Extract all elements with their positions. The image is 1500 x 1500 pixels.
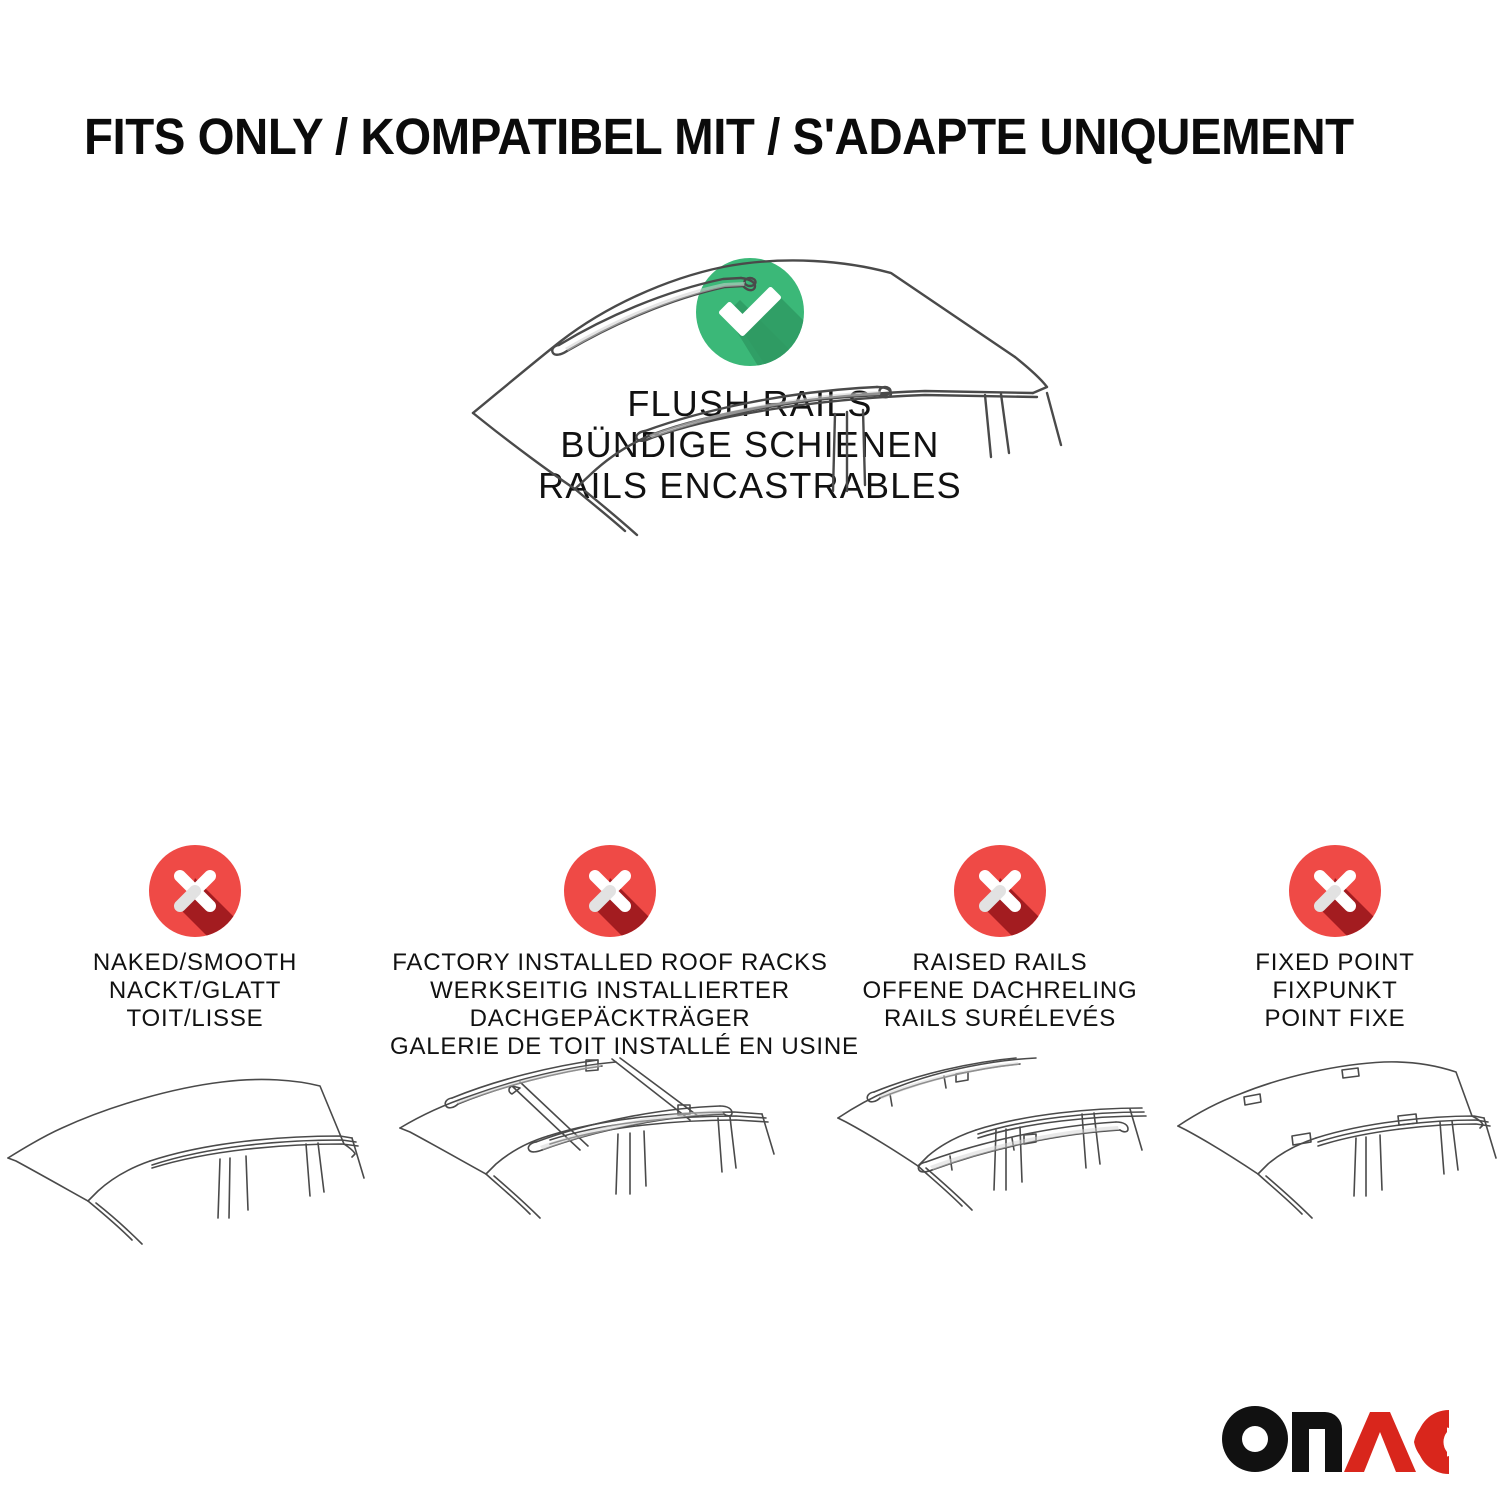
car-roof-bare-illustration — [0, 1058, 390, 1288]
car-roof-raised-rails-illustration — [830, 1058, 1170, 1288]
incompatible-column-factory-rack: FACTORY INSTALLED ROOF RACKS WERKSEITIG … — [390, 845, 830, 1061]
incompatible-label-raised-rails: RAISED RAILS OFFENE DACHRELING RAILS SUR… — [830, 949, 1170, 1033]
car-roof-factory-rack-illustration — [390, 1058, 830, 1288]
red-x-circle-icon — [149, 845, 241, 937]
label-line: WERKSEITIG INSTALLIERTER — [390, 977, 830, 1005]
page-title: FITS ONLY / KOMPATIBEL MIT / S'ADAPTE UN… — [84, 107, 1354, 166]
car-roof-flush-rails-illustration — [455, 245, 1075, 545]
label-line: RAISED RAILS — [830, 949, 1170, 977]
red-x-circle-icon — [1289, 845, 1381, 937]
label-line: DACHGEPÄCKTRÄGER — [390, 1005, 830, 1033]
incompatible-label-factory-rack: FACTORY INSTALLED ROOF RACKS WERKSEITIG … — [390, 949, 830, 1061]
label-line: FIXED POINT — [1170, 949, 1500, 977]
incompatible-column-raised-rails: RAISED RAILS OFFENE DACHRELING RAILS SUR… — [830, 845, 1170, 1061]
omac-logo — [1222, 1404, 1447, 1474]
logo-letter-o — [1222, 1406, 1288, 1472]
incompatible-label-fixed-point: FIXED POINT FIXPUNKT POINT FIXE — [1170, 949, 1500, 1033]
label-line: OFFENE DACHRELING — [830, 977, 1170, 1005]
incompatible-column-fixed-point: FIXED POINT FIXPUNKT POINT FIXE — [1170, 845, 1500, 1061]
label-line: RAILS SURÉLEVÉS — [830, 1005, 1170, 1033]
label-line: GALERIE DE TOIT INSTALLÉ EN USINE — [390, 1033, 830, 1061]
label-line: FIXPUNKT — [1170, 977, 1500, 1005]
car-roof-fixed-point-illustration — [1170, 1058, 1500, 1288]
red-x-circle-icon — [564, 845, 656, 937]
label-line: TOIT/LISSE — [0, 1005, 390, 1033]
label-line: NAKED/SMOOTH — [0, 949, 390, 977]
incompatible-column-naked: NAKED/SMOOTH NACKT/GLATT TOIT/LISSE — [0, 845, 390, 1061]
label-line: POINT FIXE — [1170, 1005, 1500, 1033]
red-x-circle-icon — [954, 845, 1046, 937]
label-line: FACTORY INSTALLED ROOF RACKS — [390, 949, 830, 977]
logo-letter-m — [1292, 1412, 1342, 1472]
logo-letter-a — [1344, 1412, 1416, 1472]
label-line: NACKT/GLATT — [0, 977, 390, 1005]
roof-illustrations-row — [0, 1058, 1500, 1288]
incompatible-section: NAKED/SMOOTH NACKT/GLATT TOIT/LISSE FACT… — [0, 845, 1500, 1061]
incompatible-label-naked: NAKED/SMOOTH NACKT/GLATT TOIT/LISSE — [0, 949, 390, 1033]
